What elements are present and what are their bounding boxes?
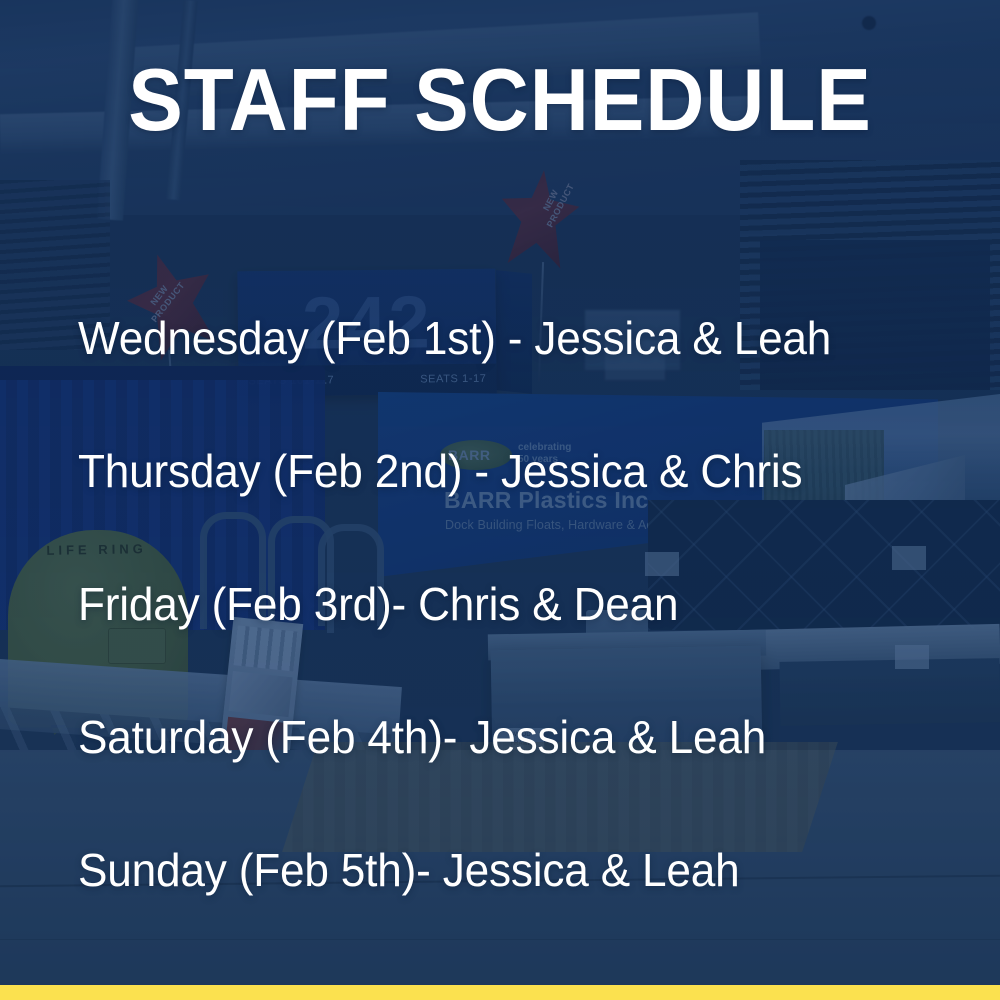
schedule-item-sunday: Sunday (Feb 5th)- Jessica & Leah [78,804,904,937]
schedule-item-thursday: Thursday (Feb 2nd) - Jessica & Chris [78,405,904,538]
schedule-item-saturday: Saturday (Feb 4th)- Jessica & Leah [78,671,904,804]
bottom-accent-bar [0,985,1000,1000]
schedule-list: Wednesday (Feb 1st) - Jessica & Leah Thu… [78,272,938,937]
schedule-item-wednesday: Wednesday (Feb 1st) - Jessica & Leah [78,272,904,405]
poster-content: STAFF SCHEDULE Wednesday (Feb 1st) - Jes… [0,0,1000,1000]
staff-schedule-poster: 242 SEATS 101-117 SEATS 1-17 NEWPRODUCT … [0,0,1000,1000]
schedule-item-friday: Friday (Feb 3rd)- Chris & Dean [78,538,904,671]
page-title: STAFF SCHEDULE [35,52,965,148]
